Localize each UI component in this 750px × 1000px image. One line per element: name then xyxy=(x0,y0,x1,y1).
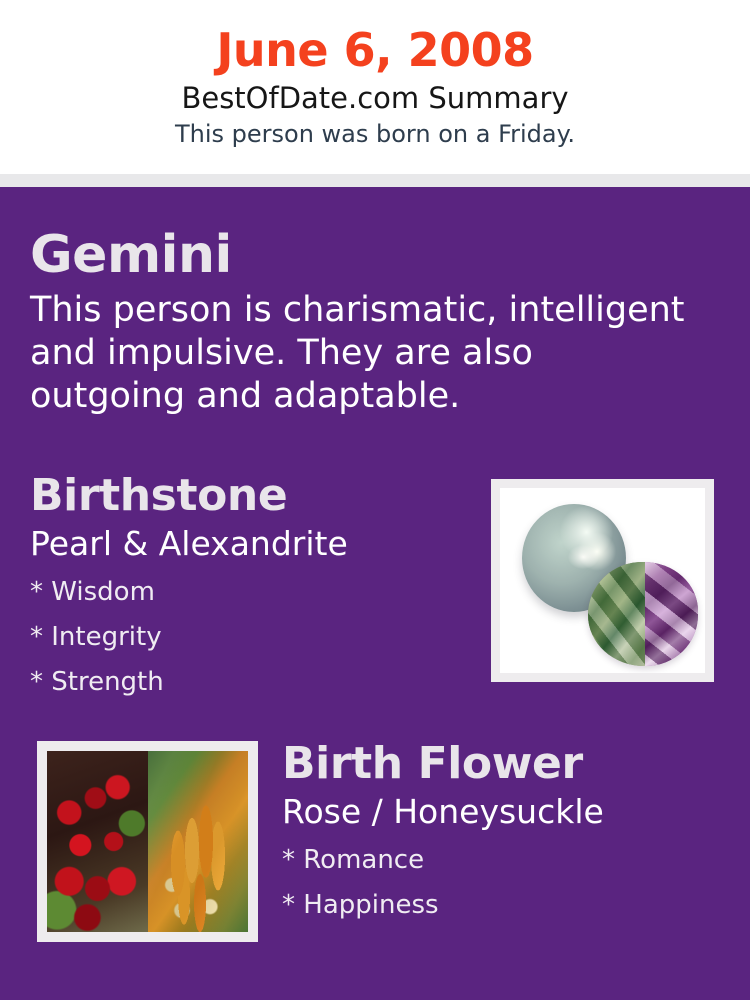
alexandrite-gem-icon xyxy=(588,562,698,666)
list-item: * Integrity xyxy=(30,615,470,660)
birth-flower-image xyxy=(47,751,248,932)
birth-flower-names: Rose / Honeysuckle xyxy=(282,790,722,832)
zodiac-section: Gemini This person is charismatic, intel… xyxy=(30,225,720,418)
date-summary-card: June 6, 2008 BestOfDate.com Summary This… xyxy=(0,0,750,1000)
birthstone-image xyxy=(500,488,705,673)
birth-flower-title: Birth Flower xyxy=(282,738,722,790)
list-item: * Wisdom xyxy=(30,570,470,615)
birthstone-image-frame xyxy=(491,479,714,682)
birth-flower-section: Birth Flower Rose / Honeysuckle * Romanc… xyxy=(282,738,722,928)
zodiac-sign-title: Gemini xyxy=(30,225,720,285)
red-roses-photo-half xyxy=(47,751,148,932)
page-title-date: June 6, 2008 xyxy=(0,0,750,78)
site-summary-label: BestOfDate.com Summary xyxy=(0,78,750,116)
birthstone-section: Birthstone Pearl & Alexandrite * Wisdom … xyxy=(30,470,470,705)
alexandrite-faceted-half xyxy=(645,562,698,666)
birth-flower-trait-list: * Romance * Happiness xyxy=(282,832,722,928)
card-header: June 6, 2008 BestOfDate.com Summary This… xyxy=(0,0,750,174)
birth-day-note: This person was born on a Friday. xyxy=(0,116,750,150)
birth-flower-image-frame xyxy=(37,741,258,942)
list-item: * Happiness xyxy=(282,883,722,928)
list-item: * Strength xyxy=(30,660,470,705)
birthstone-names: Pearl & Alexandrite xyxy=(30,522,470,564)
birthstone-title: Birthstone xyxy=(30,470,470,522)
honeysuckle-photo-half xyxy=(148,751,249,932)
list-item: * Romance xyxy=(282,838,722,883)
birthstone-trait-list: * Wisdom * Integrity * Strength xyxy=(30,564,470,705)
header-divider xyxy=(0,174,750,187)
details-panel: Gemini This person is charismatic, intel… xyxy=(0,187,750,1000)
zodiac-description: This person is charismatic, intelligent … xyxy=(30,285,695,418)
alexandrite-rough-half xyxy=(588,562,645,666)
